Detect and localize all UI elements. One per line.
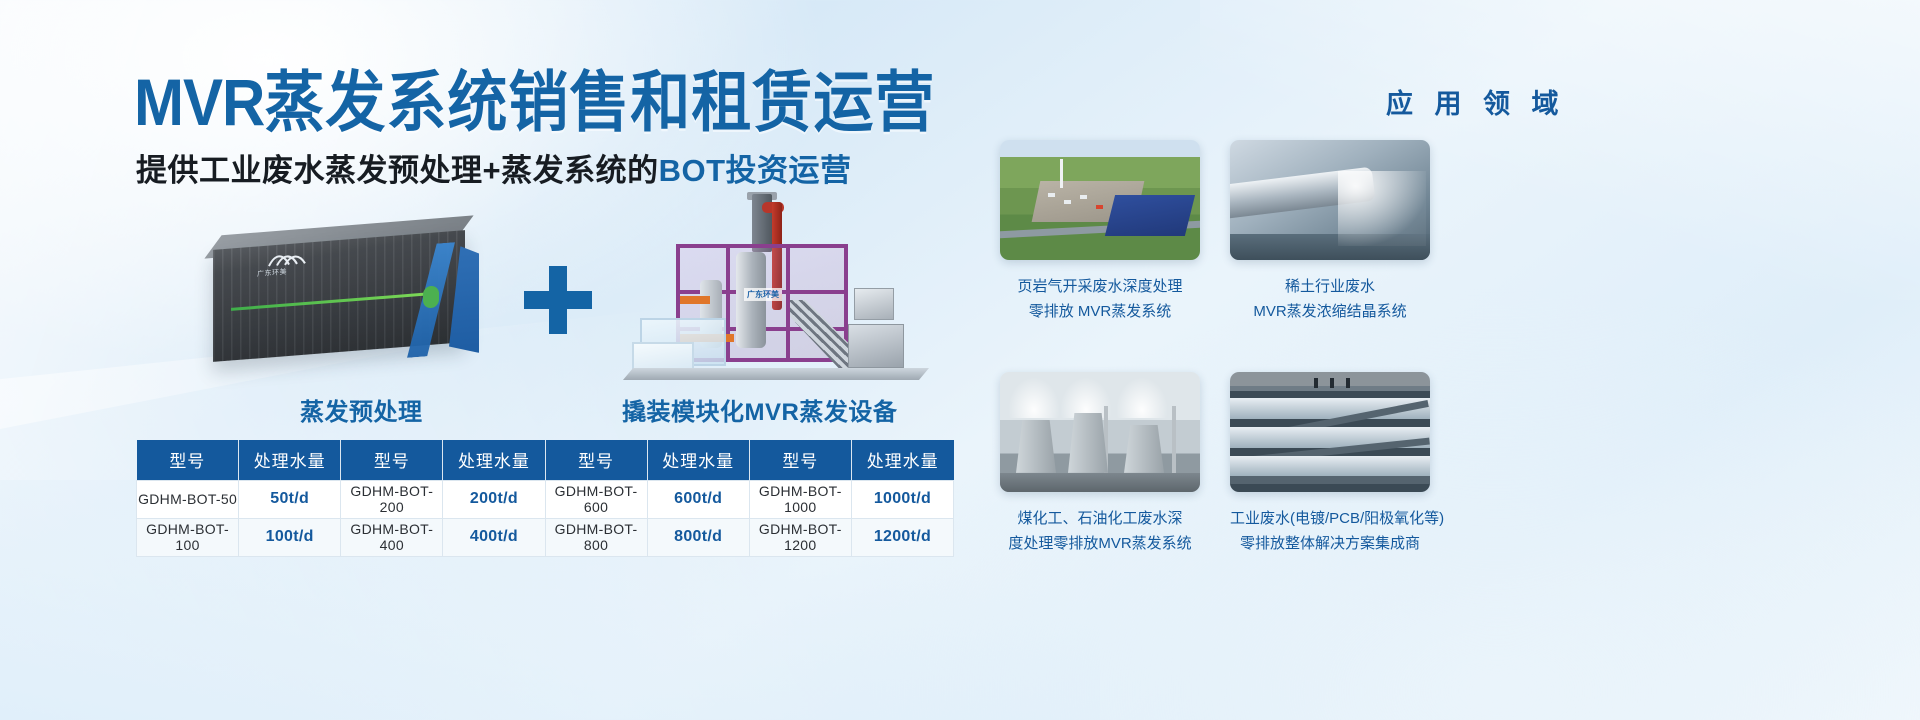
- spec-cell-capacity: 100t/d: [239, 518, 341, 556]
- spec-cell-model: GDHM-BOT-200: [341, 480, 443, 518]
- spec-table-body: GDHM-BOT-50 50t/d GDHM-BOT-200 200t/d GD…: [137, 480, 954, 556]
- skid-frame-post-left: [726, 244, 730, 362]
- application-card-shale-gas[interactable]: 页岩气开采废水深度处理 零排放 MVR蒸发系统: [1000, 140, 1200, 324]
- shale-gas-field-photo: [1000, 140, 1200, 260]
- application-card-coal-chemical[interactable]: 煤化工、石油化工废水深 度处理零排放MVR蒸发系统: [1000, 372, 1200, 556]
- application-caption-line2: 零排放整体解决方案集成商: [1230, 531, 1430, 556]
- application-caption-line1: 稀土行业废水: [1230, 274, 1430, 299]
- photo-truck: [1096, 205, 1103, 209]
- spec-header-model-1: 型号: [137, 440, 239, 480]
- photo-treatment-basin: [1230, 456, 1430, 476]
- spec-header-capacity-1: 处理水量: [239, 440, 341, 480]
- spec-header-capacity-3: 处理水量: [647, 440, 749, 480]
- coal-chemical-plant-photo: [1000, 372, 1200, 492]
- photo-worker: [1346, 378, 1350, 388]
- application-caption-line2: MVR蒸发浓缩结晶系统: [1230, 299, 1430, 324]
- photo-truck: [1064, 200, 1071, 204]
- industrial-wastewater-basin-photo: [1230, 372, 1430, 492]
- spec-header-model-4: 型号: [749, 440, 851, 480]
- application-caption: 工业废水(电镀/PCB/阳极氧化等) 零排放整体解决方案集成商: [1230, 506, 1430, 556]
- spec-cell-capacity: 1000t/d: [851, 480, 953, 518]
- photo-steam-plume: [1116, 377, 1168, 418]
- photo-water-spray: [1338, 171, 1426, 245]
- page-subtitle-highlight: BOT投资运营: [659, 153, 852, 188]
- application-card-industrial-wastewater[interactable]: 工业废水(电镀/PCB/阳极氧化等) 零排放整体解决方案集成商: [1230, 372, 1430, 556]
- spec-cell-capacity: 50t/d: [239, 480, 341, 518]
- page-title: MVR蒸发系统销售和租赁运营: [134, 68, 935, 138]
- application-card-rare-earth[interactable]: 稀土行业废水 MVR蒸发浓缩结晶系统: [1230, 140, 1430, 324]
- photo-cooling-tower: [1068, 413, 1108, 473]
- photo-worker: [1314, 378, 1318, 388]
- banner-stage: MVR蒸发系统销售和租赁运营 提供工业废水蒸发预处理+蒸发系统的BOT投资运营 …: [0, 0, 1920, 720]
- application-caption-line2: 零排放 MVR蒸发系统: [1000, 299, 1200, 324]
- photo-chimney: [1172, 406, 1176, 473]
- spec-header-capacity-2: 处理水量: [443, 440, 545, 480]
- product-caption-skid-mvr-equipment: 撬装模块化MVR蒸发设备: [622, 392, 897, 427]
- plus-icon: [520, 262, 596, 338]
- photo-steam-plume: [1008, 377, 1060, 418]
- spec-table-header-row: 型号 处理水量 型号 处理水量 型号 处理水量 型号 处理水量: [137, 440, 954, 480]
- spec-cell-capacity: 400t/d: [443, 518, 545, 556]
- container-illustration: 广东环美: [195, 222, 485, 382]
- photo-truck: [1048, 193, 1055, 197]
- product-image-evaporation-pretreatment: 广东环美: [195, 222, 485, 382]
- photo-ground: [1000, 473, 1200, 492]
- photo-basin-divider: [1230, 476, 1430, 483]
- spec-cell-capacity: 1200t/d: [851, 518, 953, 556]
- product-image-skid-mvr-equipment: 广东环美: [640, 192, 930, 392]
- photo-storage-pond: [1105, 195, 1195, 236]
- skid-base-platform: [623, 368, 929, 380]
- page-subtitle-main: 提供工业废水蒸发预处理+蒸发系统的: [136, 153, 659, 188]
- skid-control-box-upper: [854, 288, 894, 320]
- application-caption-line1: 工业废水(电镀/PCB/阳极氧化等): [1230, 506, 1430, 531]
- application-caption-line1: 煤化工、石油化工废水深: [1000, 506, 1200, 531]
- applications-section-title: 应 用 领 域: [1386, 82, 1566, 121]
- table-row: GDHM-BOT-100 100t/d GDHM-BOT-400 400t/d …: [137, 518, 954, 556]
- spec-cell-model: GDHM-BOT-400: [341, 518, 443, 556]
- container-green-indicator: [423, 285, 439, 308]
- photo-truck: [1080, 195, 1087, 199]
- spec-header-capacity-4: 处理水量: [851, 440, 953, 480]
- skid-control-cabinet: [848, 324, 904, 368]
- photo-cooling-tower: [1016, 420, 1056, 473]
- spec-table-head: 型号 处理水量 型号 处理水量 型号 处理水量 型号 处理水量: [137, 440, 954, 480]
- spec-cell-model: GDHM-BOT-600: [545, 480, 647, 518]
- spec-cell-capacity: 600t/d: [647, 480, 749, 518]
- spec-cell-model: GDHM-BOT-50: [137, 480, 239, 518]
- spec-cell-model: GDHM-BOT-1200: [749, 518, 851, 556]
- spec-cell-capacity: 200t/d: [443, 480, 545, 518]
- spec-cell-capacity: 800t/d: [647, 518, 749, 556]
- application-caption-line1: 页岩气开采废水深度处理: [1000, 274, 1200, 299]
- application-caption: 稀土行业废水 MVR蒸发浓缩结晶系统: [1230, 274, 1430, 324]
- spec-table-wrapper: 型号 处理水量 型号 处理水量 型号 处理水量 型号 处理水量 GDHM-BOT…: [136, 440, 954, 557]
- application-caption: 煤化工、石油化工废水深 度处理零排放MVR蒸发系统: [1000, 506, 1200, 556]
- product-caption-evaporation-pretreatment: 蒸发预处理: [300, 392, 423, 427]
- photo-worker: [1330, 378, 1334, 388]
- skid-brand-badge: 广东环美: [744, 288, 782, 301]
- skid-mvr-illustration: 广东环美: [640, 192, 930, 392]
- spec-cell-model: GDHM-BOT-800: [545, 518, 647, 556]
- table-row: GDHM-BOT-50 50t/d GDHM-BOT-200 200t/d GD…: [137, 480, 954, 518]
- application-caption-line2: 度处理零排放MVR蒸发系统: [1000, 531, 1200, 556]
- skid-orange-duct-upper: [680, 296, 710, 304]
- spec-cell-model: GDHM-BOT-1000: [749, 480, 851, 518]
- photo-cooling-tower: [1124, 425, 1164, 473]
- application-caption: 页岩气开采废水深度处理 零排放 MVR蒸发系统: [1000, 274, 1200, 324]
- photo-drill-rig: [1060, 159, 1063, 188]
- page-title-cn: 蒸发系统销售和租赁运营: [264, 66, 935, 140]
- skid-frame-post-right: [786, 244, 790, 362]
- page-subtitle: 提供工业废水蒸发预处理+蒸发系统的BOT投资运营: [136, 152, 852, 190]
- rare-earth-wastewater-pipe-photo: [1230, 140, 1430, 260]
- spec-cell-model: GDHM-BOT-100: [137, 518, 239, 556]
- spec-table: 型号 处理水量 型号 处理水量 型号 处理水量 型号 处理水量 GDHM-BOT…: [136, 440, 954, 557]
- spec-header-model-3: 型号: [545, 440, 647, 480]
- page-title-latin: MVR: [134, 66, 264, 140]
- spec-header-model-2: 型号: [341, 440, 443, 480]
